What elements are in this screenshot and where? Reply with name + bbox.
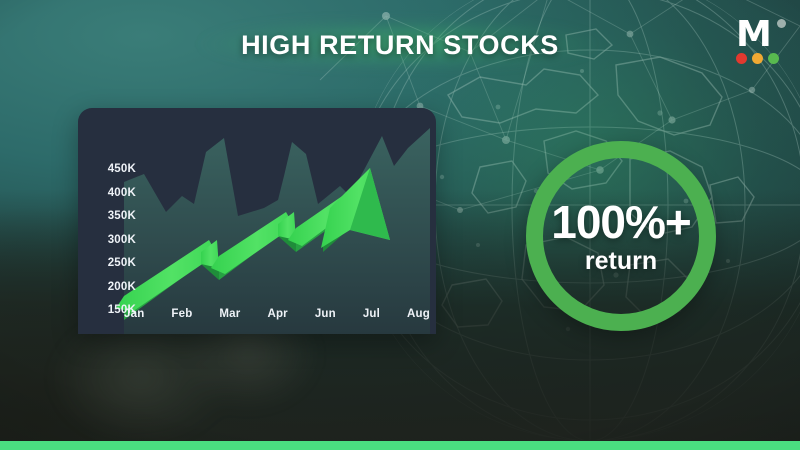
chart-y-axis: 450K 400K 350K 300K 250K 200K 150K xyxy=(88,164,136,316)
logo-node-dot-icon xyxy=(777,19,786,28)
chart-card: 450K 400K 350K 300K 250K 200K 150K Jan F… xyxy=(78,108,436,334)
x-tick: Mar xyxy=(219,308,240,320)
logo-dots xyxy=(736,53,779,64)
logo-dot-red xyxy=(736,53,747,64)
return-label: return xyxy=(585,248,657,274)
x-tick: Apr xyxy=(267,308,287,320)
y-tick: 400K xyxy=(88,188,136,199)
y-tick: 250K xyxy=(88,258,136,269)
x-tick: Aug xyxy=(407,308,430,320)
y-tick: 300K xyxy=(88,235,136,246)
logo-dot-orange xyxy=(752,53,763,64)
y-tick: 450K xyxy=(88,164,136,175)
return-badge: 100%+ return xyxy=(526,141,716,331)
chart-x-axis: Jan Feb Mar Apr Jun Jul Aug xyxy=(124,308,430,320)
screenshot-root: HIGH RETURN STOCKS M xyxy=(0,0,800,450)
x-tick: Feb xyxy=(171,308,192,320)
logo-dot-green xyxy=(768,53,779,64)
page-title: HIGH RETURN STOCKS xyxy=(0,30,800,61)
x-tick: Jan xyxy=(124,308,144,320)
y-tick: 350K xyxy=(88,211,136,222)
x-tick: Jun xyxy=(315,308,336,320)
logo-mark: M xyxy=(736,18,771,52)
return-badge-content: 100%+ return xyxy=(543,158,699,314)
x-tick: Jul xyxy=(363,308,380,320)
bottom-accent-bar xyxy=(0,441,800,450)
brand-logo: M xyxy=(728,18,788,70)
return-value: 100%+ xyxy=(551,199,691,245)
y-tick: 200K xyxy=(88,282,136,293)
